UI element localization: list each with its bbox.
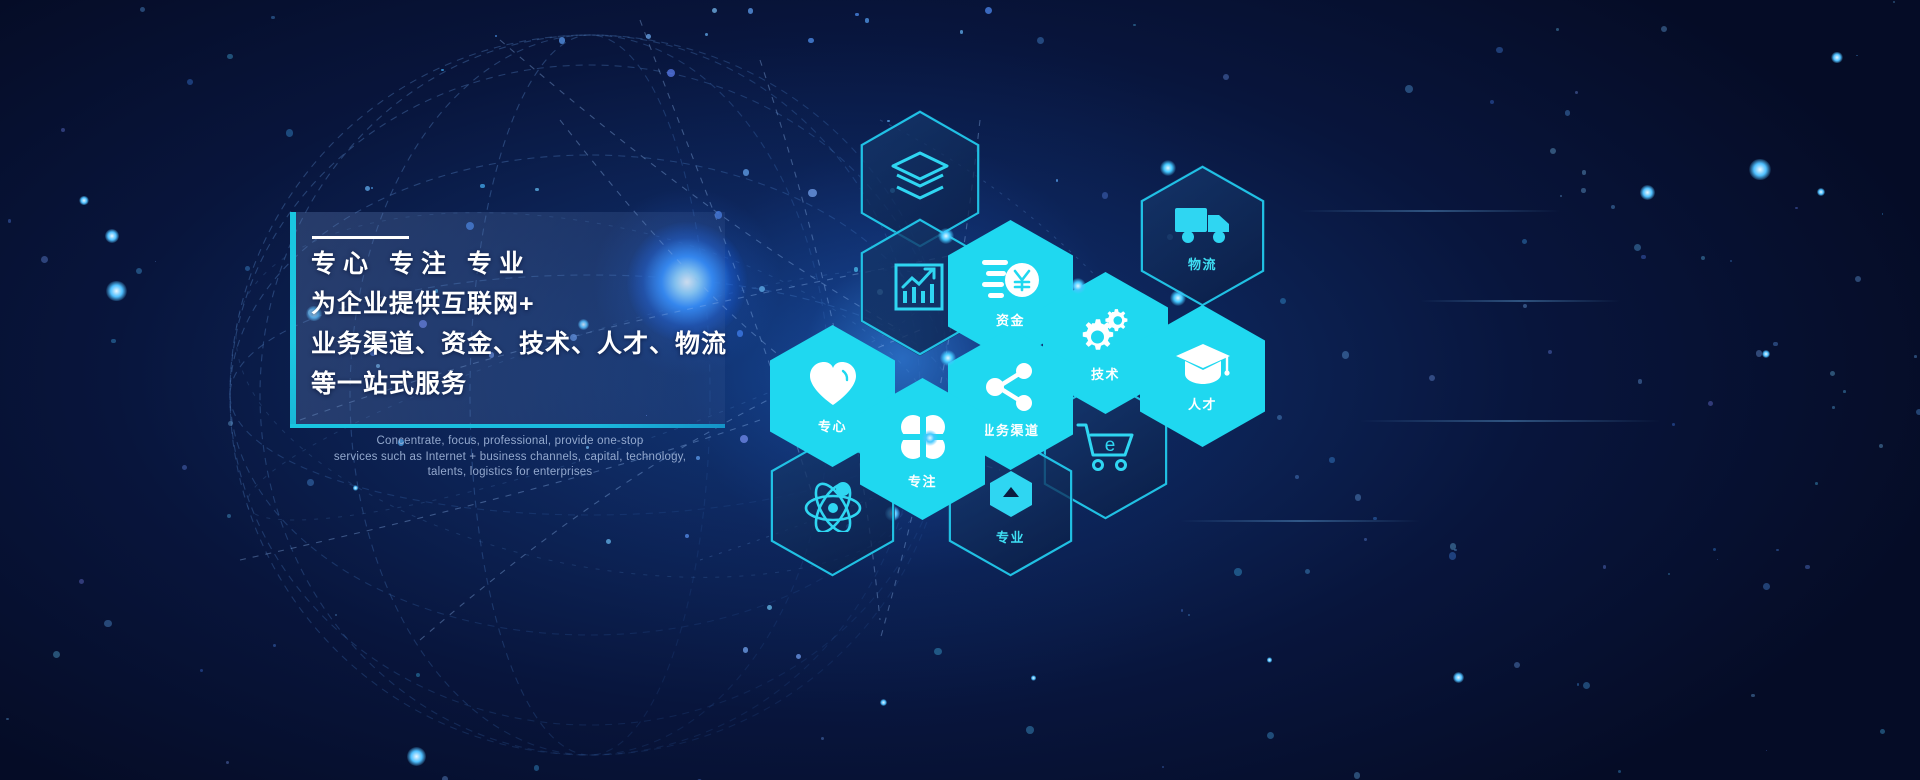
particle-dot bbox=[705, 33, 708, 36]
particle-dot bbox=[416, 673, 420, 677]
subtitle-text: Concentrate, focus, professional, provid… bbox=[330, 434, 690, 481]
particle-dot bbox=[182, 465, 187, 470]
particle-dot bbox=[1550, 148, 1556, 154]
hexagon-vertex-glow bbox=[1160, 160, 1176, 176]
share-nodes-icon bbox=[984, 362, 1036, 417]
particle-dot bbox=[227, 54, 232, 59]
hexagon-vertex-glow bbox=[1070, 278, 1086, 294]
particle-dot bbox=[1640, 185, 1655, 200]
particle-dot bbox=[1305, 569, 1311, 575]
headline-line-2: 为企业提供互联网+ bbox=[311, 284, 751, 324]
layers-icon bbox=[889, 149, 951, 210]
headline-text: 专心 专注 专业 为企业提供互联网+ 业务渠道、资金、技术、人才、物流 等一站式… bbox=[311, 244, 751, 404]
atom-icon bbox=[802, 476, 864, 537]
particle-dot bbox=[1133, 24, 1136, 27]
hexagon-content bbox=[802, 476, 864, 537]
particle-dot bbox=[136, 268, 142, 274]
particle-dot bbox=[226, 761, 229, 764]
particle-dot bbox=[79, 579, 84, 584]
hexagon-vertex-glow bbox=[938, 228, 954, 244]
particle-dot bbox=[353, 485, 358, 490]
particle-dot bbox=[140, 7, 145, 12]
hexagon-content bbox=[889, 149, 951, 210]
particle-dot bbox=[407, 747, 427, 767]
particle-dot bbox=[79, 196, 89, 206]
particle-dot bbox=[273, 644, 276, 647]
particle-dot bbox=[1342, 351, 1349, 358]
particle-dot bbox=[111, 339, 116, 344]
particle-dot bbox=[1855, 276, 1861, 282]
particle-dot bbox=[1701, 256, 1705, 260]
particle-dot bbox=[53, 651, 60, 658]
particle-dot bbox=[1879, 444, 1883, 448]
particle-dot bbox=[1914, 355, 1917, 358]
particle-dot bbox=[1355, 494, 1361, 500]
particle-dot bbox=[606, 539, 611, 544]
truck-icon bbox=[1174, 202, 1232, 251]
light-streak bbox=[1420, 300, 1620, 302]
particle-dot bbox=[1453, 672, 1464, 683]
particle-dot bbox=[1565, 110, 1571, 116]
hexagon-content: e bbox=[1075, 421, 1137, 478]
particle-dot bbox=[559, 37, 565, 43]
particle-dot bbox=[1641, 255, 1646, 260]
hexagon-label: 专业 bbox=[996, 531, 1025, 544]
particle-dot bbox=[1364, 538, 1366, 540]
hexagon-vertex-glow bbox=[940, 350, 956, 366]
particle-dot bbox=[535, 188, 539, 192]
particle-dot bbox=[1162, 766, 1164, 768]
banner-stage: 专心 专注 专业 为企业提供互联网+ 业务渠道、资金、技术、人才、物流 等一站式… bbox=[0, 0, 1920, 780]
particle-dot bbox=[1805, 565, 1809, 569]
particle-dot bbox=[1730, 260, 1732, 262]
particle-dot bbox=[1329, 457, 1334, 462]
particle-dot bbox=[335, 614, 337, 616]
particle-dot bbox=[1661, 26, 1667, 32]
particle-dot bbox=[1717, 559, 1718, 560]
particle-dot bbox=[1556, 28, 1559, 31]
hexagon-label: 人才 bbox=[1188, 398, 1217, 411]
particle-dot bbox=[1756, 350, 1763, 357]
particle-dot bbox=[365, 186, 371, 192]
subtitle-line-3: talents, logistics for enterprises bbox=[330, 465, 690, 481]
hexagon-content: 专心 bbox=[807, 360, 859, 433]
svg-text:e: e bbox=[1104, 435, 1115, 456]
particle-dot bbox=[1026, 726, 1034, 734]
hexagon-content: 业务渠道 bbox=[981, 362, 1039, 437]
particle-dot bbox=[1763, 583, 1770, 590]
particle-dot bbox=[41, 256, 48, 263]
hexagon-label: 专心 bbox=[818, 420, 847, 433]
particle-dot bbox=[6, 718, 8, 720]
particle-dot bbox=[1638, 379, 1643, 384]
particle-dot bbox=[534, 765, 539, 770]
hexagon-content: 人才 bbox=[1175, 342, 1231, 411]
hexagon-rencai[interactable]: 人才 bbox=[1140, 305, 1265, 447]
particle-dot bbox=[1354, 772, 1361, 779]
particle-dot bbox=[1751, 694, 1754, 697]
particle-dot bbox=[1856, 55, 1858, 57]
particle-dot bbox=[1181, 609, 1184, 612]
particle-dot bbox=[960, 30, 963, 33]
hexagon-content: 资金 bbox=[982, 256, 1040, 327]
particle-dot bbox=[1880, 729, 1885, 734]
particle-dot bbox=[61, 128, 66, 133]
particle-dot bbox=[307, 479, 313, 485]
particle-dot bbox=[1581, 188, 1586, 193]
particle-dot bbox=[1773, 342, 1778, 347]
panel-underline bbox=[290, 424, 725, 428]
headline-line-3: 业务渠道、资金、技术、人才、物流 bbox=[311, 324, 751, 364]
hexagon-zhuanzhu[interactable]: 专注 bbox=[860, 378, 985, 520]
particle-dot bbox=[200, 669, 204, 673]
particle-dot bbox=[748, 8, 754, 14]
particle-dot bbox=[1916, 409, 1920, 415]
particle-dot bbox=[696, 456, 700, 460]
particle-dot bbox=[985, 7, 992, 14]
light-streak bbox=[1300, 210, 1560, 212]
particle-dot bbox=[155, 261, 156, 262]
particle-dot bbox=[1668, 573, 1671, 576]
hexagon-cluster: 专心资金技术物流人才业务渠道专注e专业 bbox=[740, 100, 1300, 530]
particle-dot bbox=[1882, 213, 1883, 214]
heart-icon bbox=[807, 360, 859, 413]
particle-dot bbox=[1496, 47, 1503, 54]
headline-line-1: 专心 专注 专业 bbox=[311, 244, 751, 284]
hexagon-label: 专注 bbox=[908, 475, 937, 488]
particle-dot bbox=[1893, 1, 1895, 3]
particle-dot bbox=[1708, 401, 1713, 406]
particle-dot bbox=[1830, 371, 1835, 376]
particle-dot bbox=[767, 605, 772, 610]
particle-dot bbox=[1611, 205, 1615, 209]
particle-dot bbox=[743, 647, 749, 653]
particle-dot bbox=[1582, 170, 1586, 174]
particle-dot bbox=[1490, 100, 1494, 104]
particle-dot bbox=[1031, 675, 1037, 681]
particle-dot bbox=[1188, 614, 1190, 616]
particle-dot bbox=[441, 69, 444, 72]
money-yen-icon bbox=[982, 256, 1040, 307]
particle-dot bbox=[104, 620, 112, 628]
particle-dot bbox=[1577, 683, 1579, 685]
particle-dot bbox=[1583, 682, 1590, 689]
particle-dot bbox=[808, 38, 814, 44]
particle-dot bbox=[1560, 195, 1562, 197]
diamond-icon bbox=[986, 469, 1036, 524]
bar-chart-up-icon bbox=[892, 257, 948, 318]
particle-dot bbox=[796, 654, 801, 659]
particle-dot bbox=[1843, 390, 1846, 393]
particle-dot bbox=[105, 229, 119, 243]
particle-dot bbox=[1548, 350, 1552, 354]
subtitle-line-2: services such as Internet + business cha… bbox=[330, 450, 690, 466]
particle-dot bbox=[1749, 159, 1771, 181]
hexagon-content: 专注 bbox=[897, 411, 949, 488]
hexagon-label: 资金 bbox=[996, 314, 1025, 327]
hexagon-content: 物流 bbox=[1174, 202, 1232, 271]
hexagon-label: 物流 bbox=[1188, 258, 1217, 271]
particle-dot bbox=[1672, 423, 1675, 426]
hexagon-content: 技术 bbox=[1079, 306, 1133, 381]
headline-rule bbox=[312, 236, 409, 239]
particle-dot bbox=[480, 184, 485, 189]
particle-dot bbox=[1634, 244, 1642, 252]
particle-dot bbox=[1522, 239, 1527, 244]
hexagon-content: 专业 bbox=[986, 469, 1036, 544]
particle-dot bbox=[667, 69, 675, 77]
hexagon-label: 业务渠道 bbox=[981, 424, 1039, 437]
particle-dot bbox=[865, 18, 869, 22]
particle-dot bbox=[1267, 732, 1274, 739]
particle-dot bbox=[1618, 770, 1621, 773]
particle-dot bbox=[227, 514, 231, 518]
particle-dot bbox=[106, 281, 127, 302]
graduation-cap-icon bbox=[1175, 342, 1231, 391]
hexagon-vertex-glow bbox=[1170, 290, 1186, 306]
particle-dot bbox=[371, 187, 373, 189]
particle-dot bbox=[271, 16, 274, 19]
particle-dot bbox=[855, 13, 859, 17]
particle-dot bbox=[228, 421, 233, 426]
particle-dot bbox=[821, 737, 824, 740]
particle-dot bbox=[1831, 52, 1843, 64]
particle-dot bbox=[1603, 565, 1606, 568]
particle-dot bbox=[1523, 304, 1527, 308]
particle-dot bbox=[495, 35, 497, 37]
particle-dot bbox=[934, 648, 941, 655]
particle-dot bbox=[1037, 37, 1044, 44]
particle-dot bbox=[1832, 406, 1835, 409]
particle-dot bbox=[286, 129, 293, 136]
particle-dot bbox=[712, 8, 717, 13]
particle-dot bbox=[1405, 85, 1413, 93]
particle-dot bbox=[8, 219, 11, 222]
particle-dot bbox=[1817, 188, 1825, 196]
particle-dot bbox=[1766, 750, 1768, 752]
panel-accent-bar bbox=[290, 212, 296, 427]
hexagon-label: 技术 bbox=[1091, 368, 1120, 381]
particle-dot bbox=[1762, 350, 1770, 358]
particle-dot bbox=[1267, 657, 1273, 663]
shopping-cart-e-icon: e bbox=[1075, 421, 1137, 478]
particle-dot bbox=[1514, 662, 1520, 668]
particle-dot bbox=[245, 266, 250, 271]
particle-dot bbox=[1815, 482, 1818, 485]
particle-dot bbox=[1429, 375, 1436, 382]
particle-dot bbox=[187, 79, 193, 85]
particle-dot bbox=[1713, 548, 1716, 551]
gears-icon bbox=[1079, 306, 1133, 361]
hexagon-vertex-glow bbox=[922, 430, 938, 446]
particle-dot bbox=[646, 34, 651, 39]
hexagon-content bbox=[892, 257, 948, 318]
particle-dot bbox=[442, 776, 448, 780]
particle-dot bbox=[1234, 568, 1241, 575]
particle-dot bbox=[1575, 91, 1578, 94]
particle-dot bbox=[880, 699, 887, 706]
particle-dot bbox=[1454, 549, 1457, 552]
particle-dot bbox=[685, 534, 689, 538]
particle-dot bbox=[1223, 74, 1229, 80]
particle-dot bbox=[1776, 549, 1779, 552]
light-streak bbox=[1360, 420, 1660, 422]
headline-line-4: 等一站式服务 bbox=[311, 364, 751, 404]
particle-dot bbox=[1449, 552, 1456, 559]
subtitle-line-1: Concentrate, focus, professional, provid… bbox=[330, 434, 690, 450]
particle-dot bbox=[1795, 207, 1797, 209]
